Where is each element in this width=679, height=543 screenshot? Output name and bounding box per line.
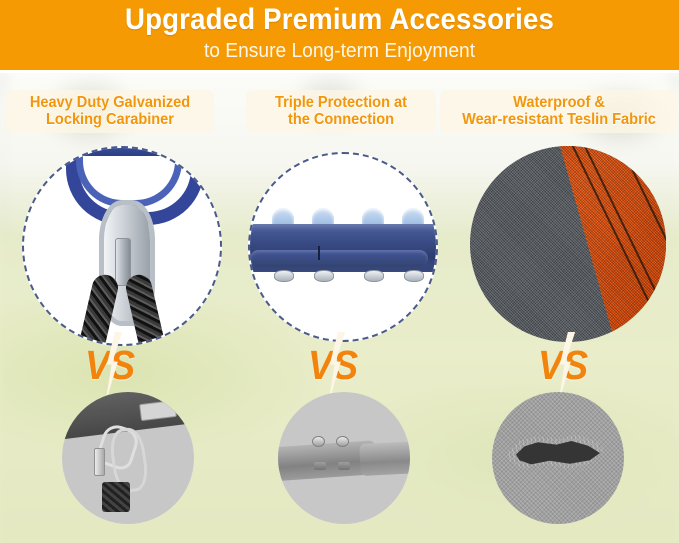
upgraded-image-connection: [248, 152, 438, 342]
old-tube-right: [359, 440, 410, 476]
feature-label-line1: Heavy Duty Galvanized: [20, 94, 200, 111]
vs-badge-carabiner: VS: [75, 340, 145, 396]
header-banner: Upgraded Premium Accessories to Ensure L…: [0, 0, 679, 70]
vs-badge-fabric: VS: [528, 340, 598, 396]
old-image-connection: [278, 392, 410, 524]
washer-1: [274, 270, 294, 282]
old-bolt-2: [336, 436, 349, 447]
braided-rope-graphic: [83, 272, 161, 346]
feature-label-fabric: Waterproof & Wear-resistant Teslin Fabri…: [440, 90, 678, 133]
rope-strand-right: [123, 272, 168, 346]
feature-label-line1: Triple Protection at: [259, 94, 423, 111]
vs-badge-connection: VS: [298, 340, 368, 396]
connection-tube: [248, 224, 438, 272]
upgraded-image-carabiner: [22, 146, 222, 346]
old-foot-1: [314, 462, 326, 470]
feature-label-carabiner: Heavy Duty Galvanized Locking Carabiner: [6, 90, 214, 133]
old-image-fabric: [492, 392, 624, 524]
teslin-fabric-graphic: [470, 146, 666, 342]
washer-4: [404, 270, 424, 282]
header-divider: [0, 70, 679, 73]
connection-bar-graphic: [250, 154, 436, 340]
infographic-stage: Upgraded Premium Accessories to Ensure L…: [0, 0, 679, 543]
old-sleeve: [94, 448, 105, 476]
washer-2: [314, 270, 334, 282]
tube-alignment-mark: [318, 246, 320, 260]
upgraded-image-fabric: [470, 146, 666, 342]
feature-label-line1: Waterproof &: [455, 94, 664, 111]
page-subtitle: to Ensure Long-term Enjoyment: [14, 40, 666, 63]
washer-3: [364, 270, 384, 282]
old-foot-2: [338, 462, 350, 470]
rope-strand-left: [75, 272, 120, 346]
feature-label-connection: Triple Protection at the Connection: [246, 90, 436, 133]
old-rope-knot: [102, 482, 130, 512]
old-image-carabiner: [62, 392, 194, 524]
tube-seam: [250, 250, 428, 267]
old-bolt-1: [312, 436, 325, 447]
page-title: Upgraded Premium Accessories: [27, 3, 652, 37]
feature-label-line2: the Connection: [259, 111, 423, 128]
feature-label-line2: Wear-resistant Teslin Fabric: [455, 111, 664, 128]
feature-label-line2: Locking Carabiner: [20, 111, 200, 128]
